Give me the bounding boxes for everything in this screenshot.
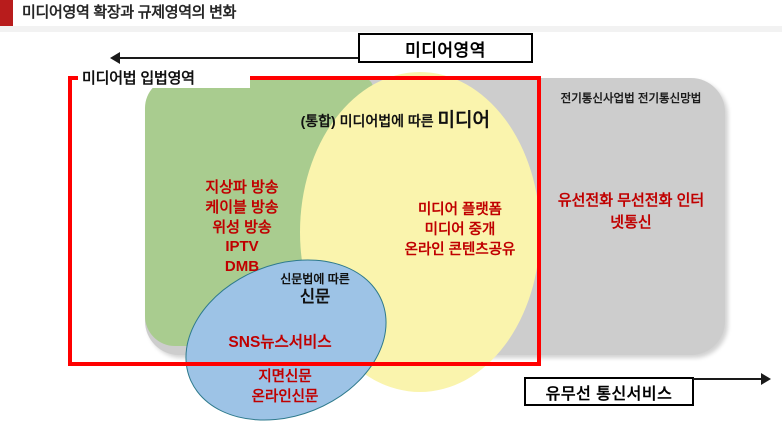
title-accent-bar: [0, 0, 13, 26]
telecom-laws-label: 전기통신사업법 전기통신망법: [556, 92, 706, 108]
slide-canvas: 미디어영역 확장과 규제영역의 변화 미디어영역 전기통신사업법 전기통신망법 …: [0, 0, 782, 436]
legislation-frame-label: 미디어법 입법영역: [82, 67, 195, 88]
legislation-frame: [68, 76, 541, 366]
bottom-arrow-head-icon: [761, 373, 771, 385]
bottom-arrow-line: [693, 378, 765, 380]
newspaper-services-list: 지면신문 온라인신문: [205, 368, 365, 407]
media-domain-label-box: 미디어영역: [358, 33, 533, 63]
telecom-service-label-box: 유무선 통신서비스: [524, 377, 694, 406]
page-title: 미디어영역 확장과 규제영역의 변화: [22, 1, 236, 22]
top-arrow-line: [116, 57, 359, 59]
telecom-services-list: 유선전화 무선전화 인터넷통신: [556, 190, 706, 234]
title-divider: [0, 26, 782, 32]
